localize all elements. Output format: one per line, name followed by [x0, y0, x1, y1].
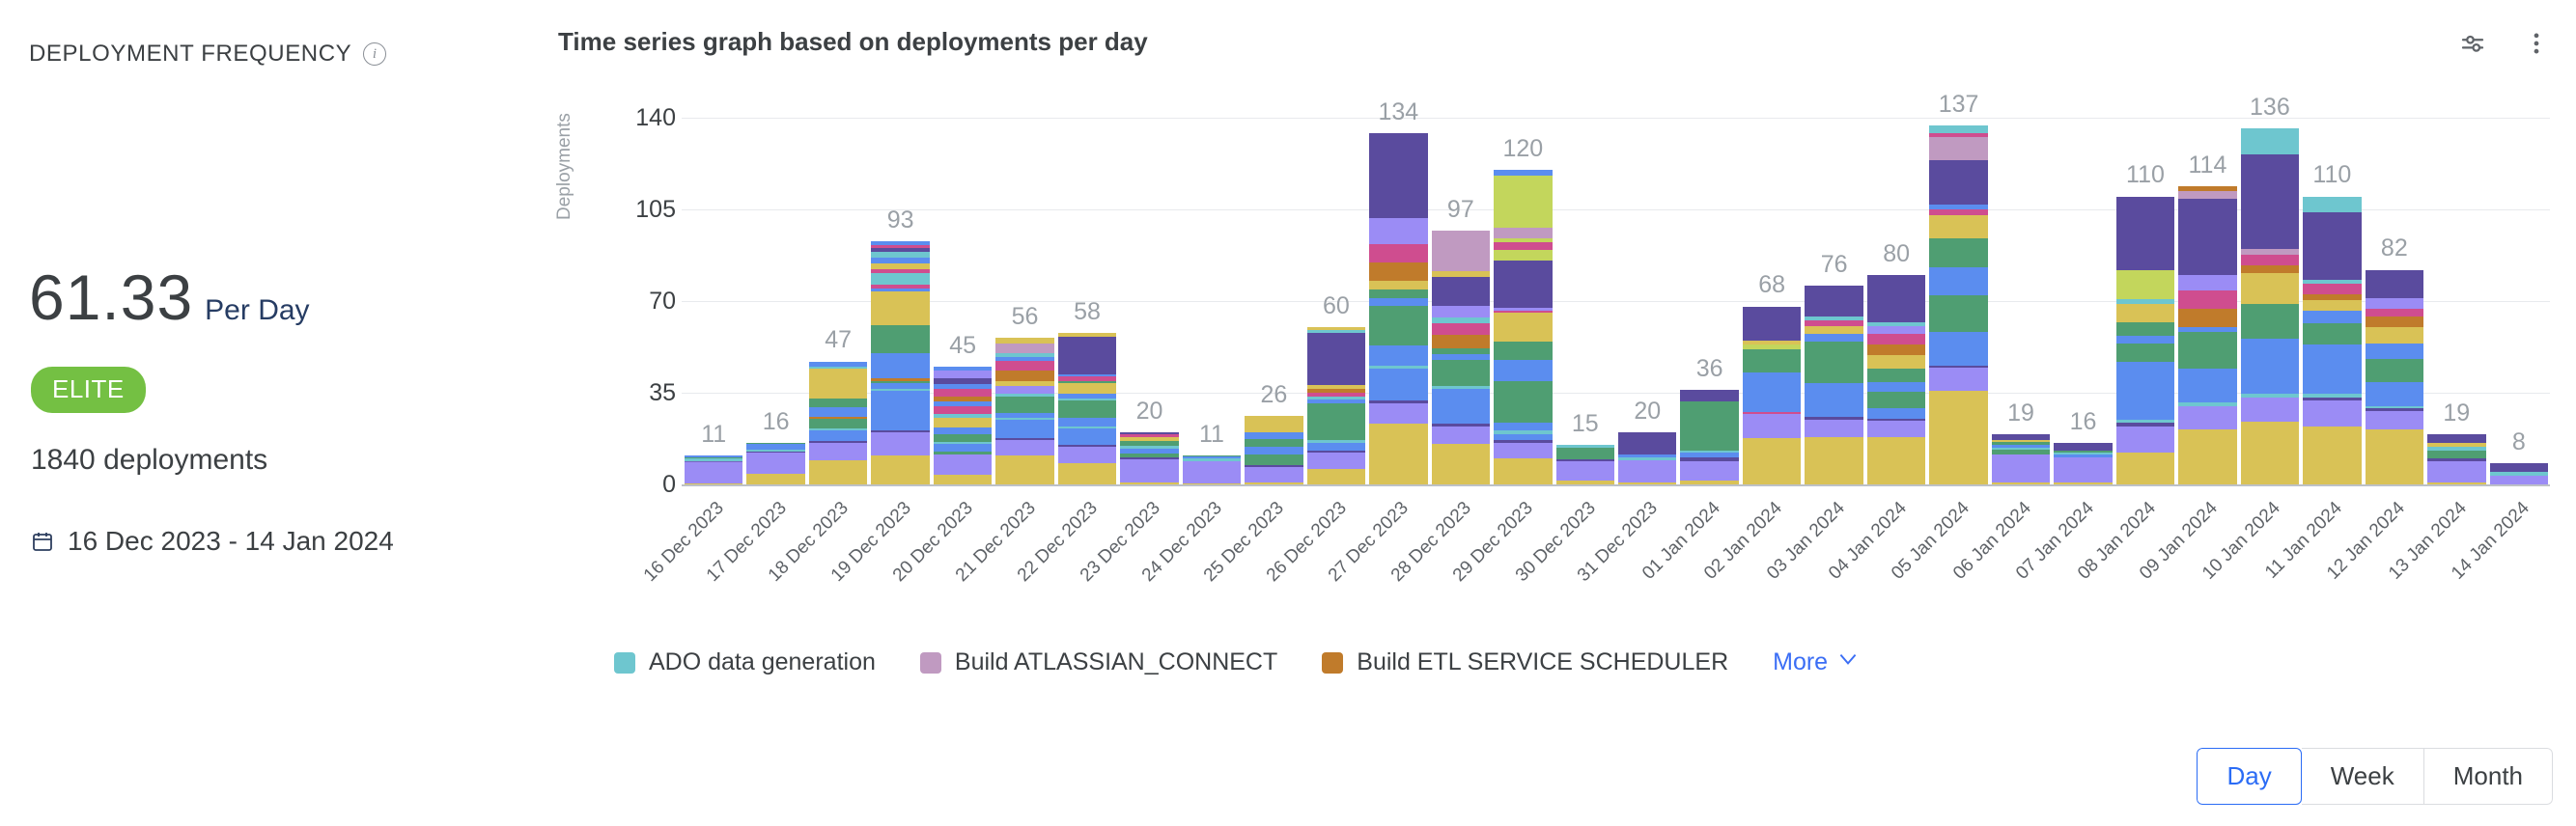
- chart-bar[interactable]: [1307, 327, 1365, 484]
- bar-value-label: 8: [2512, 428, 2526, 456]
- bar-segment: [995, 420, 1053, 438]
- bar-segment: [1618, 482, 1676, 484]
- bar-segment: [934, 401, 992, 406]
- bar-segment: [871, 430, 929, 432]
- bar-segment: [2178, 191, 2236, 199]
- bar-value-label: 56: [1012, 303, 1039, 331]
- bar-segment: [1432, 389, 1490, 424]
- bar-stack: [685, 455, 742, 484]
- x-axis-tick: 09 Jan 2024: [2105, 498, 2223, 616]
- bar-value-label: 19: [2443, 399, 2470, 427]
- bar-segment: [2178, 429, 2236, 484]
- bar-segment: [2303, 311, 2361, 324]
- chart-bar[interactable]: [685, 455, 742, 484]
- bar-segment: [809, 460, 867, 484]
- bar-segment: [995, 413, 1053, 418]
- bar-segment: [1369, 244, 1427, 262]
- bar-value-label: 80: [1883, 240, 1910, 268]
- chart-bar[interactable]: [1058, 333, 1116, 484]
- bar-segment: [2116, 362, 2174, 420]
- bar-segment: [934, 452, 992, 454]
- bar-segment: [2178, 290, 2236, 309]
- chart-bar[interactable]: [1618, 432, 1676, 484]
- bar-segment: [1929, 125, 1987, 133]
- bar-segment: [871, 258, 929, 263]
- bar-segment: [2116, 322, 2174, 336]
- bar-segment: [995, 371, 1053, 381]
- chart-bar[interactable]: [1245, 416, 1302, 484]
- bar-segment: [809, 369, 867, 399]
- bar-segment: [1058, 383, 1116, 394]
- bar-segment: [1432, 335, 1490, 349]
- bar-stack: [1680, 390, 1738, 484]
- bar-segment: [2241, 339, 2299, 394]
- bar-segment: [934, 454, 992, 476]
- x-axis-tick: 30 Dec 2023: [1483, 498, 1601, 616]
- bar-stack: [934, 367, 992, 484]
- bar-segment: [2178, 186, 2236, 191]
- chart-bar[interactable]: [2241, 128, 2299, 484]
- bar-segment: [1058, 418, 1116, 426]
- info-icon[interactable]: i: [363, 42, 386, 66]
- bar-segment: [1929, 267, 1987, 296]
- bar-segment: [1058, 400, 1116, 418]
- x-axis-tick: 28 Dec 2023: [1358, 498, 1476, 616]
- chart-bar[interactable]: [746, 443, 804, 484]
- bar-value-label: 82: [2381, 234, 2408, 262]
- bar-stack: [995, 338, 1053, 484]
- bar-segment: [1929, 332, 1987, 366]
- bar-segment: [746, 474, 804, 484]
- bar-segment: [1867, 392, 1925, 407]
- bar-segment: [2116, 304, 2174, 322]
- chart-bar[interactable]: [1494, 170, 1552, 484]
- bar-segment: [871, 381, 929, 383]
- bar-segment: [2241, 422, 2299, 484]
- bar-segment: [1183, 456, 1241, 458]
- bar-stack: [2178, 186, 2236, 484]
- bar-segment: [995, 361, 1053, 370]
- bar-segment: [2427, 482, 2485, 484]
- bar-segment: [1805, 334, 1862, 342]
- chart-bar[interactable]: [1432, 231, 1490, 484]
- bar-segment: [1556, 459, 1614, 461]
- bar-segment: [1369, 262, 1427, 281]
- bar-segment: [1494, 228, 1552, 238]
- bar-value-label: 58: [1074, 298, 1101, 326]
- bar-value-label: 120: [1502, 135, 1543, 163]
- bar-segment: [746, 452, 804, 454]
- legend-item[interactable]: ADO data generation: [614, 648, 876, 676]
- x-axis-tick: 25 Dec 2023: [1171, 498, 1289, 616]
- bar-segment: [746, 450, 804, 452]
- bar-segment: [1992, 448, 2050, 451]
- bar-segment: [1867, 382, 1925, 393]
- bar-segment: [1992, 434, 2050, 439]
- bar-stack: [1494, 170, 1552, 484]
- chart-bar[interactable]: [995, 338, 1053, 484]
- bar-value-label: 20: [1136, 398, 1163, 426]
- bar-segment: [934, 389, 992, 397]
- bar-segment: [2490, 463, 2548, 472]
- x-axis-tick: 14 Jan 2024: [2417, 498, 2534, 616]
- bar-segment: [2366, 344, 2423, 359]
- chart-bar[interactable]: [1992, 434, 2050, 484]
- chart-bar[interactable]: [1369, 133, 1427, 484]
- x-axis-tick: 19 Dec 2023: [798, 498, 916, 616]
- bar-segment: [934, 427, 992, 434]
- chart-bar[interactable]: [1183, 455, 1241, 484]
- bar-stack: [1307, 327, 1365, 484]
- bar-segment: [2178, 402, 2236, 406]
- bar-segment: [2241, 249, 2299, 254]
- x-axis-tick: 02 Jan 2024: [1669, 498, 1787, 616]
- bar-segment: [995, 440, 1053, 455]
- chart-bar[interactable]: [2303, 196, 2361, 484]
- bar-segment: [1867, 334, 1925, 344]
- bar-segment: [2116, 420, 2174, 423]
- bar-segment: [1992, 482, 2050, 484]
- bar-segment: [1992, 454, 2050, 482]
- bar-segment: [2241, 398, 2299, 422]
- bar-segment: [1680, 401, 1738, 451]
- bar-segment: [1369, 289, 1427, 297]
- bar-segment: [1867, 437, 1925, 484]
- range-toggle[interactable]: DayWeekMonth: [2197, 748, 2553, 805]
- bar-segment: [1369, 400, 1427, 403]
- chart-bar[interactable]: [1743, 306, 1801, 484]
- bar-value-label: 26: [1261, 381, 1288, 409]
- bar-segment: [1432, 317, 1490, 323]
- bar-segment: [1245, 447, 1302, 454]
- bar-segment: [2366, 359, 2423, 382]
- bar-segment: [1992, 442, 2050, 445]
- bar-segment: [809, 407, 867, 417]
- bar-segment: [746, 443, 804, 445]
- metric-title-label: DEPLOYMENT FREQUENCY: [29, 41, 351, 68]
- date-range: 16 Dec 2023 - 14 Jan 2024: [31, 526, 394, 557]
- legend-item[interactable]: Build ETL SERVICE SCHEDULER: [1322, 648, 1728, 676]
- bar-segment: [746, 453, 804, 474]
- chart-bar[interactable]: [871, 241, 929, 484]
- chart-bar[interactable]: [2054, 443, 2112, 484]
- chart-bar[interactable]: [1867, 275, 1925, 484]
- x-axis-tick: 27 Dec 2023: [1296, 498, 1414, 616]
- bar-segment: [2303, 284, 2361, 294]
- bar-segment: [685, 483, 742, 484]
- bar-segment: [1432, 323, 1490, 335]
- bar-stack: [1183, 455, 1241, 484]
- bar-segment: [2366, 327, 2423, 343]
- range-toggle-week[interactable]: Week: [2302, 748, 2424, 805]
- bar-segment: [1867, 344, 1925, 355]
- bar-value-label: 97: [1447, 196, 1474, 224]
- bar-segment: [1929, 215, 1987, 238]
- bar-segment: [1369, 306, 1427, 345]
- bar-segment: [1494, 423, 1552, 430]
- bar-stack: [2427, 434, 2485, 484]
- x-axis-tick: 08 Jan 2024: [2043, 498, 2161, 616]
- bar-segment: [2303, 280, 2361, 284]
- bar-segment: [1494, 261, 1552, 308]
- bar-segment: [995, 386, 1053, 394]
- bar-segment: [1058, 445, 1116, 447]
- bar-segment: [1307, 440, 1365, 443]
- bar-segment: [2303, 323, 2361, 344]
- chart-bar[interactable]: [934, 367, 992, 484]
- x-axis-tick: 04 Jan 2024: [1794, 498, 1912, 616]
- legend-more-label: More: [1773, 648, 1828, 676]
- chart-legend: ADO data generationBuild ATLASSIAN_CONNE…: [614, 647, 1861, 678]
- bar-segment: [1432, 348, 1490, 354]
- bar-value-label: 110: [2312, 161, 2351, 189]
- bar-segment: [2241, 394, 2299, 398]
- chart-bar[interactable]: [2490, 463, 2548, 484]
- bar-segment: [1494, 170, 1552, 175]
- legend-swatch: [1322, 652, 1343, 674]
- bar-segment: [871, 248, 929, 252]
- bar-segment: [2241, 265, 2299, 273]
- bar-segment: [1369, 424, 1427, 484]
- x-axis-tick: 16 Dec 2023: [611, 498, 729, 616]
- chart-header-actions: [2456, 27, 2553, 60]
- bar-segment: [871, 383, 929, 389]
- bar-segment: [2178, 327, 2236, 332]
- bar-segment: [1929, 391, 1987, 484]
- chart-bar[interactable]: [2116, 196, 2174, 484]
- range-toggle-day[interactable]: Day: [2197, 748, 2301, 805]
- sliders-icon[interactable]: [2456, 27, 2489, 60]
- bar-segment: [1307, 397, 1365, 399]
- y-axis-title: Deployments: [554, 113, 575, 220]
- bar-stack: [2054, 443, 2112, 484]
- bar-segment: [2178, 406, 2236, 429]
- more-vertical-icon[interactable]: [2520, 27, 2553, 60]
- bar-segment: [1245, 432, 1302, 439]
- bar-segment: [995, 353, 1053, 357]
- bar-segment: [1432, 424, 1490, 427]
- bar-segment: [1494, 238, 1552, 242]
- chart-bar[interactable]: [1680, 390, 1738, 484]
- x-axis-tick: 07 Jan 2024: [1980, 498, 2098, 616]
- bar-stack: [1432, 231, 1490, 484]
- bar-segment: [1680, 461, 1738, 481]
- y-axis-tick: 35: [649, 379, 676, 407]
- bar-segment: [1743, 349, 1801, 372]
- chart-bar[interactable]: [1929, 125, 1987, 484]
- y-axis-tick: 70: [649, 288, 676, 316]
- bar-segment: [1929, 366, 1987, 369]
- bar-segment: [934, 384, 992, 389]
- chart-bar[interactable]: [2178, 186, 2236, 484]
- bar-segment: [1307, 333, 1365, 385]
- bar-segment: [2427, 461, 2485, 482]
- bar-segment: [1929, 238, 1987, 267]
- bar-segment: [2241, 128, 2299, 154]
- bar-segment: [1369, 133, 1427, 217]
- x-axis-tick: 10 Jan 2024: [2168, 498, 2285, 616]
- bar-segment: [934, 442, 992, 444]
- bar-segment: [1120, 454, 1178, 457]
- bar-segment: [2303, 212, 2361, 281]
- bar-segment: [1369, 298, 1427, 306]
- bar-value-label: 20: [1634, 398, 1661, 426]
- bar-segment: [809, 419, 867, 428]
- bar-segment: [1805, 320, 1862, 325]
- bar-segment: [1805, 417, 1862, 420]
- bar-segment: [1867, 421, 1925, 436]
- bar-segment: [934, 444, 992, 452]
- bar-segment: [995, 394, 1053, 397]
- bar-segment: [2054, 453, 2112, 454]
- bar-segment: [1245, 439, 1302, 447]
- bar-segment: [1120, 437, 1178, 441]
- bar-segment: [1867, 322, 1925, 326]
- bar-segment: [871, 291, 929, 325]
- bar-segment: [1680, 453, 1738, 456]
- bar-segment: [1245, 482, 1302, 484]
- bar-value-label: 15: [1572, 410, 1599, 438]
- bar-value-label: 137: [1939, 91, 1979, 119]
- bar-segment: [1432, 354, 1490, 360]
- date-range-label: 16 Dec 2023 - 14 Jan 2024: [68, 526, 394, 557]
- bar-segment: [2178, 369, 2236, 402]
- bar-segment: [934, 418, 992, 427]
- x-axis-tick: 20 Dec 2023: [860, 498, 978, 616]
- bar-segment: [1494, 313, 1552, 342]
- chart-bar[interactable]: [1556, 445, 1614, 484]
- bar-segment: [1307, 453, 1365, 468]
- bar-value-label: 110: [2126, 161, 2165, 189]
- chart-bar[interactable]: [809, 361, 867, 484]
- bar-stack: [1058, 333, 1116, 484]
- bar-segment: [1058, 447, 1116, 463]
- bar-segment: [1556, 461, 1614, 481]
- bar-segment: [1992, 450, 2050, 454]
- bar-segment: [2116, 270, 2174, 299]
- bar-segment: [1494, 443, 1552, 458]
- bar-segment: [1805, 317, 1862, 320]
- bar-segment: [1307, 469, 1365, 484]
- bar-segment: [1929, 205, 1987, 209]
- bar-segment: [2427, 443, 2485, 447]
- bar-segment: [2116, 427, 2174, 453]
- bar-segment: [2366, 298, 2423, 309]
- bar-segment: [2427, 451, 2485, 458]
- bar-segment: [1992, 445, 2050, 448]
- bar-segment: [1743, 344, 1801, 349]
- bar-value-label: 68: [1758, 271, 1785, 299]
- x-axis-tick: 26 Dec 2023: [1234, 498, 1352, 616]
- calendar-icon: [31, 530, 54, 553]
- bar-segment: [1805, 286, 1862, 317]
- bar-segment: [1183, 483, 1241, 484]
- bar-segment: [1494, 308, 1552, 311]
- bar-segment: [2366, 429, 2423, 484]
- bar-segment: [995, 357, 1053, 361]
- bar-segment: [1929, 133, 1987, 137]
- bar-segment: [2241, 273, 2299, 305]
- gridline: [682, 393, 2550, 394]
- bar-segment: [2303, 400, 2361, 427]
- bar-segment: [871, 263, 929, 269]
- bar-segment: [1805, 383, 1862, 417]
- bar-segment: [1929, 209, 1987, 214]
- bar-segment: [934, 367, 992, 371]
- bar-segment: [1618, 457, 1676, 460]
- bar-segment: [1307, 330, 1365, 333]
- bar-segment: [934, 414, 992, 418]
- bar-segment: [1556, 481, 1614, 484]
- bar-segment: [1307, 451, 1365, 453]
- bar-segment: [1929, 368, 1987, 391]
- bar-segment: [1058, 333, 1116, 337]
- bar-segment: [1680, 451, 1738, 454]
- legend-label: Build ETL SERVICE SCHEDULER: [1357, 648, 1728, 676]
- bar-stack: [1245, 416, 1302, 484]
- chart-bar[interactable]: [2427, 434, 2485, 484]
- bar-value-label: 16: [2070, 408, 2097, 436]
- range-toggle-month[interactable]: Month: [2424, 748, 2553, 805]
- bar-value-label: 76: [1821, 251, 1848, 279]
- deployment-frequency-panel: DEPLOYMENT FREQUENCY i 61.33 Per Day ELI…: [0, 0, 541, 826]
- bar-segment: [1805, 437, 1862, 484]
- bar-segment: [1743, 307, 1801, 341]
- bar-segment: [1369, 403, 1427, 425]
- bar-segment: [2116, 299, 2174, 304]
- bar-segment: [871, 273, 929, 285]
- bar-segment: [1743, 412, 1801, 415]
- chart-bar[interactable]: [1805, 286, 1862, 484]
- bar-segment: [809, 428, 867, 430]
- bar-segment: [995, 381, 1053, 386]
- legend-item[interactable]: Build ATLASSIAN_CONNECT: [920, 648, 1277, 676]
- bar-segment: [2303, 300, 2361, 311]
- bar-segment: [1307, 327, 1365, 330]
- chart-bar[interactable]: [2366, 269, 2423, 484]
- bar-segment: [871, 378, 929, 381]
- legend-more-button[interactable]: More: [1773, 647, 1861, 678]
- bar-segment: [1494, 250, 1552, 261]
- bar-segment: [1120, 432, 1178, 434]
- bar-segment: [2178, 309, 2236, 327]
- bar-segment: [1369, 345, 1427, 367]
- bar-value-label: 45: [949, 332, 976, 360]
- bar-segment: [1494, 458, 1552, 484]
- bar-segment: [871, 269, 929, 273]
- bar-stack: [2241, 128, 2299, 484]
- bar-segment: [1307, 393, 1365, 397]
- x-axis-tick: 23 Dec 2023: [1047, 498, 1164, 616]
- bar-segment: [871, 455, 929, 484]
- bar-segment: [1867, 275, 1925, 322]
- bar-segment: [2178, 332, 2236, 369]
- bar-segment: [1432, 277, 1490, 306]
- bar-segment: [871, 245, 929, 248]
- bar-segment: [2116, 336, 2174, 344]
- bar-segment: [1556, 448, 1614, 458]
- bar-segment: [2303, 427, 2361, 484]
- chart-bar[interactable]: [1120, 432, 1178, 484]
- bar-segment: [2178, 275, 2236, 290]
- bar-segment: [685, 461, 742, 462]
- status-badge: ELITE: [31, 367, 146, 413]
- legend-label: ADO data generation: [649, 648, 876, 676]
- bar-segment: [2116, 423, 2174, 427]
- bar-segment: [2241, 154, 2299, 249]
- bar-segment: [1120, 457, 1178, 459]
- bar-segment: [1245, 467, 1302, 482]
